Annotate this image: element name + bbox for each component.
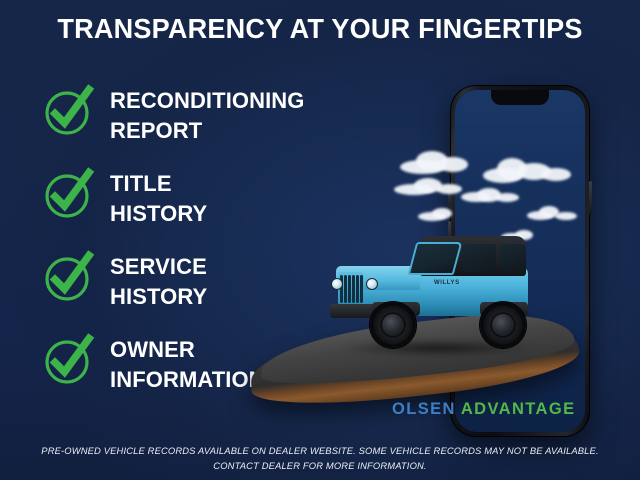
vehicle-side-window <box>462 244 496 272</box>
vehicle-headlight <box>331 278 343 290</box>
list-item-label-line1: TITLE <box>110 169 207 199</box>
legal-disclaimer: PRE-OWNED VEHICLE RECORDS AVAILABLE ON D… <box>0 443 640 473</box>
check-circle-icon <box>44 335 92 383</box>
list-item-label-line2: HISTORY <box>110 199 207 229</box>
check-circle-icon <box>44 252 92 300</box>
brand-name-olsen: OLSEN <box>392 400 456 418</box>
volume-up-button-icon <box>448 185 451 213</box>
vehicle-front-wheel <box>370 302 416 348</box>
jeep-wrangler-vehicle: WILLYS <box>328 228 550 352</box>
phone-notch <box>491 90 549 105</box>
vehicle-headlight <box>366 278 378 290</box>
list-item-label-line2: HISTORY <box>110 282 207 312</box>
silent-switch-icon <box>448 157 451 175</box>
check-circle-icon <box>44 169 92 217</box>
list-item-labels: TITLE HISTORY <box>110 167 207 229</box>
vehicle-windshield <box>408 242 463 275</box>
check-circle-icon <box>44 86 92 134</box>
disclaimer-line-2: CONTACT DEALER FOR MORE INFORMATION. <box>0 458 640 473</box>
advertisement-banner: TRANSPARENCY AT YOUR FINGERTIPS RECONDIT… <box>0 0 640 480</box>
page-title: TRANSPARENCY AT YOUR FINGERTIPS <box>5 14 635 44</box>
vehicle-grille <box>338 272 364 306</box>
disclaimer-line-1: PRE-OWNED VEHICLE RECORDS AVAILABLE ON D… <box>0 443 640 458</box>
vehicle-rear-window <box>500 244 526 270</box>
brand-logo: OLSENADVANTAGE <box>392 400 592 419</box>
list-item-labels: SERVICE HISTORY <box>110 250 207 312</box>
vehicle-rear-wheel <box>480 302 526 348</box>
power-button-icon <box>589 181 592 215</box>
list-item-label-line2: INFORMATION <box>110 365 265 395</box>
brand-name-advantage: ADVANTAGE <box>461 400 576 418</box>
list-item-labels: OWNER INFORMATION <box>110 333 265 395</box>
hero-scene: WILLYS <box>250 60 640 430</box>
vehicle-badge: WILLYS <box>434 280 460 286</box>
list-item-label-line1: SERVICE <box>110 252 207 282</box>
list-item-label-line1: OWNER <box>110 335 265 365</box>
